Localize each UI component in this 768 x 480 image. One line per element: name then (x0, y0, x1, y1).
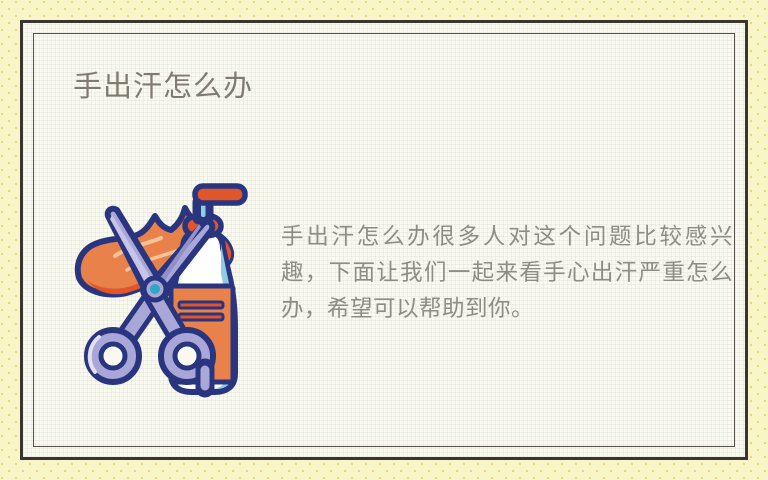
card-content: 手出汗怎么办 (23, 23, 745, 457)
scissors-and-pump-bottle-illustration (71, 178, 271, 403)
illustration-svg (71, 178, 271, 403)
poster-canvas: 手出汗怎么办 (0, 0, 768, 480)
body-paragraph: 手出汗怎么办很多人对这个问题比较感兴趣，下面让我们一起来看手心出汗严重怎么办，希… (281, 219, 733, 327)
page-title: 手出汗怎么办 (73, 69, 253, 104)
card-frame: 手出汗怎么办 (20, 20, 748, 460)
